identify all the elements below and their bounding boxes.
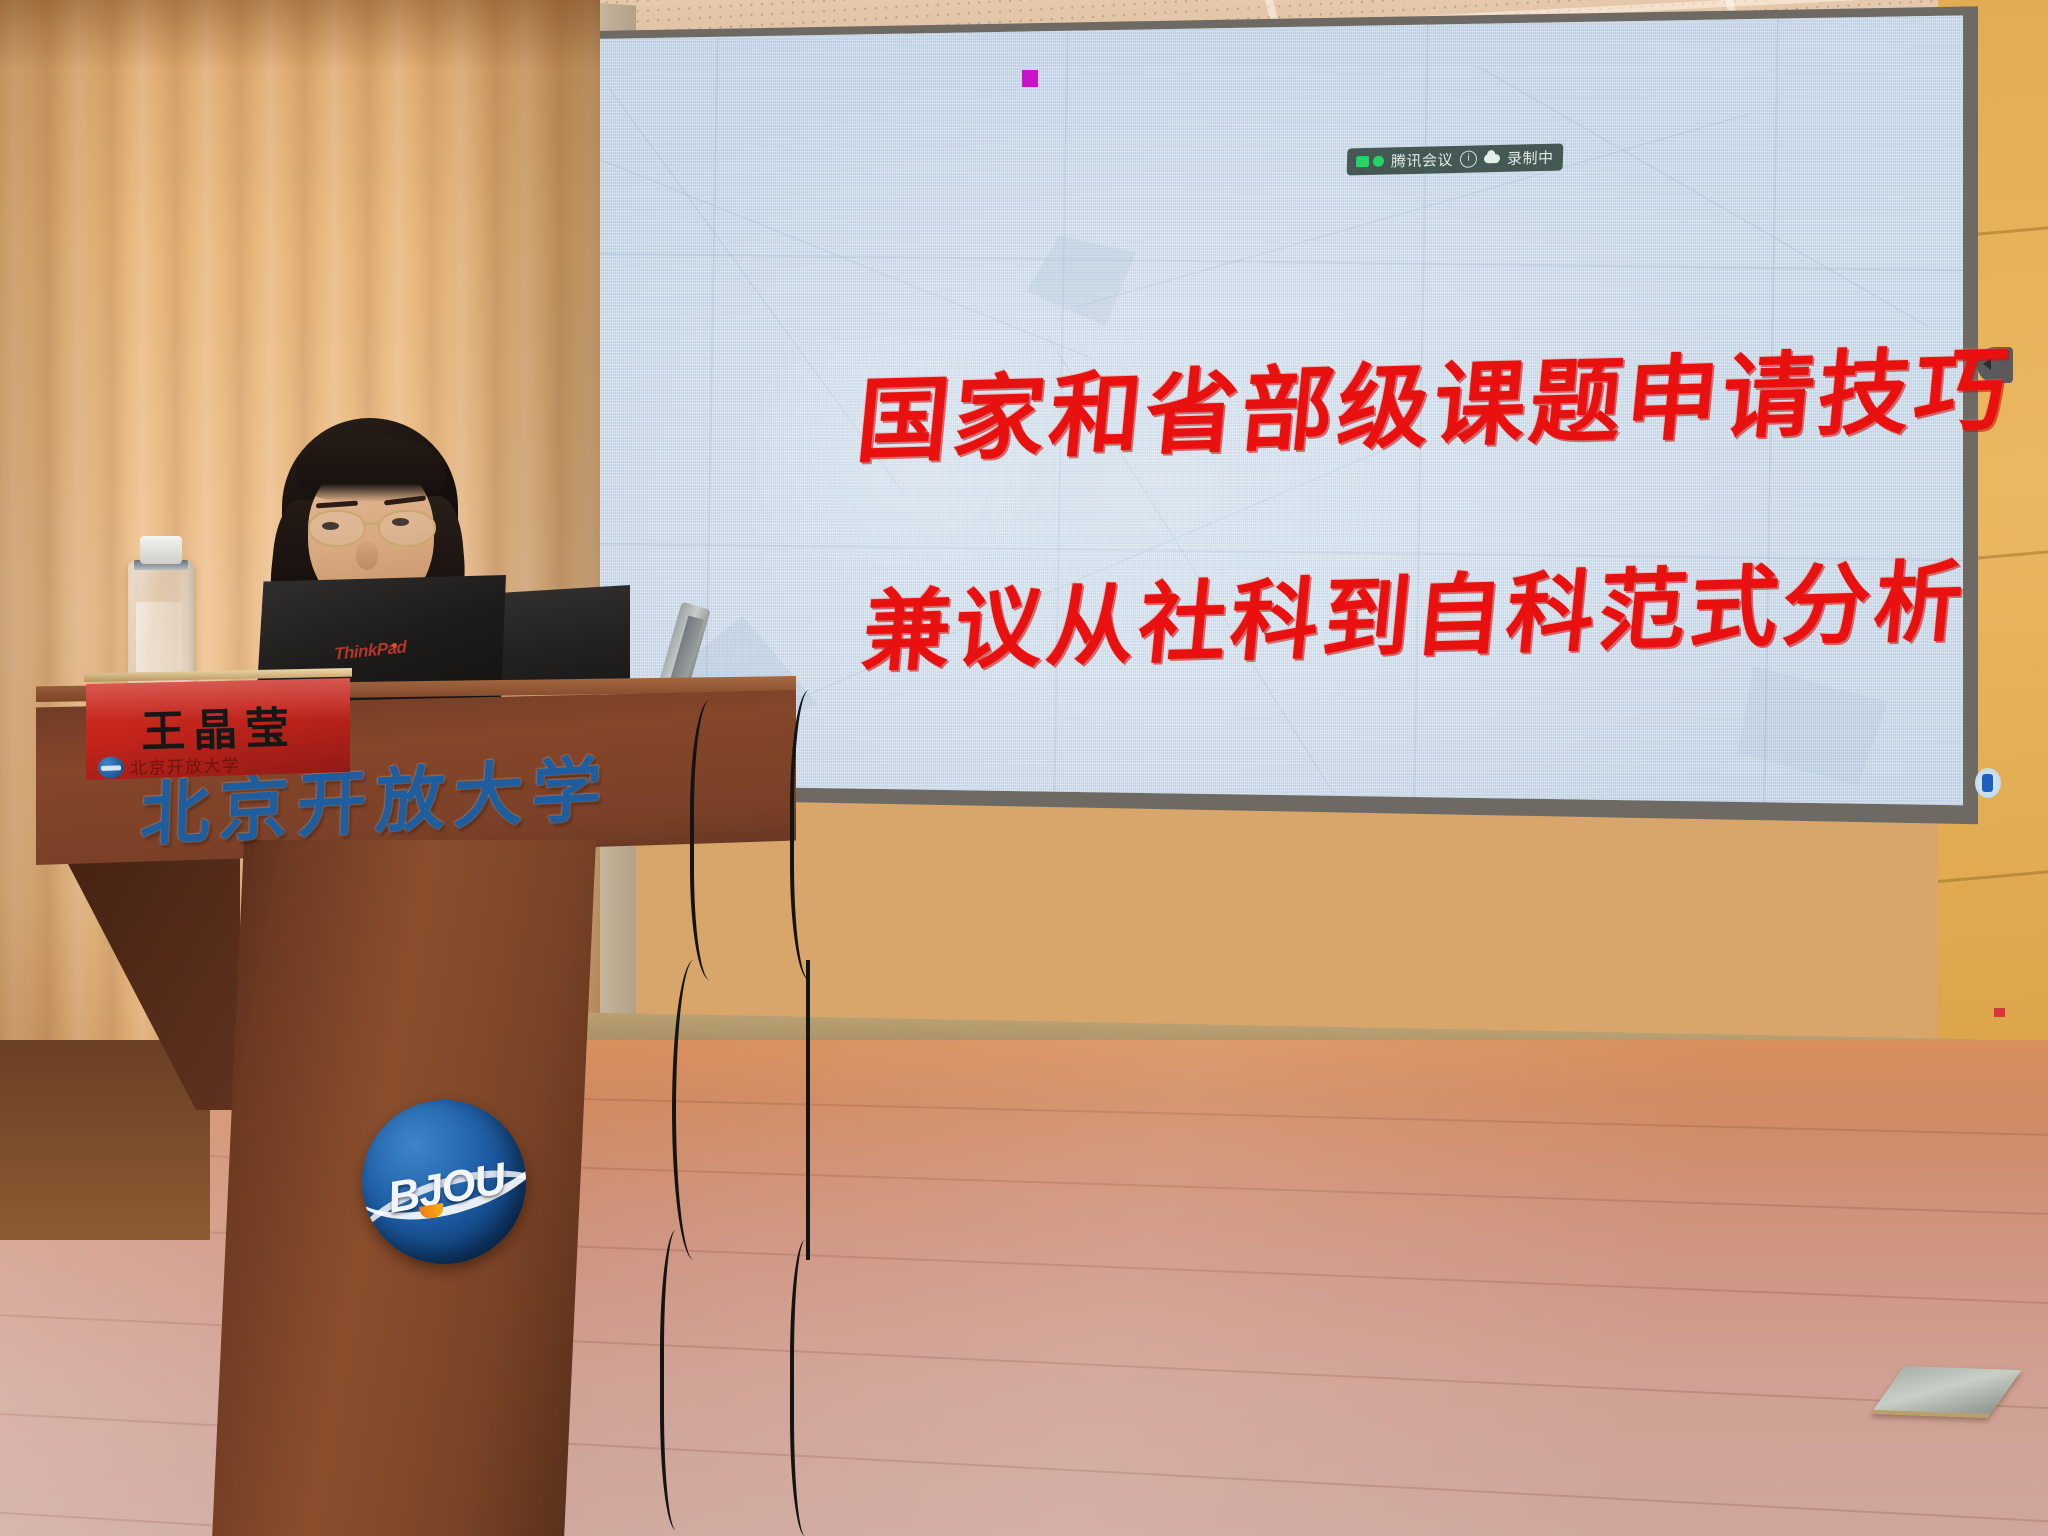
lecture-hall-photo: 国家和省部级课题申请技巧 兼议从社科到自科范式分析 腾讯会议 i 录制中 (0, 0, 2048, 1536)
wall-panel-seam (1938, 870, 2048, 883)
signal-bar-icon (1356, 156, 1369, 167)
tencent-meeting-banner[interactable]: 腾讯会议 i 录制中 (1347, 144, 1563, 176)
bottle-cap (140, 536, 182, 564)
cloud-icon (1484, 154, 1500, 163)
presenter-nose (356, 542, 378, 570)
nameplate-organization: 北京开放大学 (130, 751, 241, 779)
speaker-name-text: 王晶莹 (113, 691, 325, 761)
magenta-dead-pixel (1022, 70, 1038, 87)
power-cable-right (790, 690, 838, 980)
speaker-nameplate: 王晶莹 北京开放大学 (86, 678, 350, 780)
glasses-lens-left (308, 510, 366, 547)
bjou-small-logo-icon (98, 756, 125, 779)
power-cable-left (690, 700, 740, 980)
red-dead-pixel (1994, 1008, 2005, 1017)
bottle-label (136, 602, 182, 672)
presenter-bangs (296, 436, 446, 502)
power-cable-right-lower (806, 960, 852, 1260)
slide-title-line-1: 国家和省部级课题申请技巧 (853, 344, 1981, 468)
power-cable-right-bottom (790, 1240, 828, 1536)
nameplate-footer: 北京开放大学 (98, 751, 241, 780)
power-cable-left-bottom (660, 1230, 700, 1530)
curtain-top-shadow (0, 0, 600, 70)
status-dot-icon (1373, 156, 1384, 167)
blue-screen-badge-icon (1975, 768, 2001, 798)
recording-indicator-dots (1356, 156, 1384, 168)
slide-title-block: 国家和省部级课题申请技巧 兼议从社科到自科范式分析 (856, 344, 1984, 675)
glasses-lens-right (378, 510, 436, 547)
recording-status-label: 录制中 (1507, 147, 1554, 169)
glasses-bridge (362, 522, 380, 525)
info-icon[interactable]: i (1460, 150, 1478, 167)
power-cable-left-lower (672, 960, 716, 1260)
thinkpad-logo: ThinkPad (334, 637, 407, 665)
presenter-glasses (306, 510, 438, 544)
tencent-meeting-label: 腾讯会议 (1391, 149, 1454, 171)
